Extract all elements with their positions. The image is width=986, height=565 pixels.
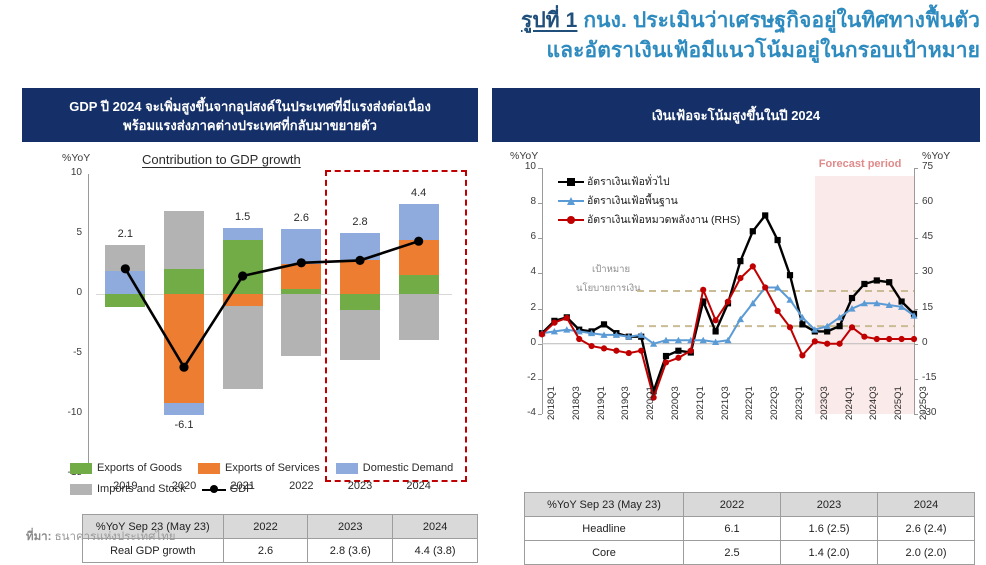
axis-tick — [538, 168, 542, 169]
left-y-axis — [88, 174, 89, 474]
legend-item: Exports of Goods — [70, 462, 182, 474]
bar-value-label: 2.8 — [330, 216, 390, 228]
right-chart-x-tick: 2019Q3 — [620, 386, 631, 420]
axis-tick — [538, 379, 542, 380]
left-legend: Exports of GoodsExports of ServicesDomes… — [70, 462, 480, 504]
left-y-tick: -10 — [52, 407, 82, 418]
legend-item: Domestic Demand — [336, 462, 453, 474]
axis-tick — [914, 273, 918, 274]
axis-tick — [914, 238, 918, 239]
right-chart-right-tick: 45 — [922, 231, 950, 242]
legend-item: อัตราเงินเฟ้อทั่วไป — [558, 172, 740, 191]
left-y-tick: 10 — [52, 167, 82, 178]
bar-segment — [223, 228, 263, 240]
bar-segment — [340, 260, 380, 294]
axis-tick — [538, 203, 542, 204]
right-chart-x-tick: 2023Q3 — [819, 386, 830, 420]
table-header-cell: 2024 — [393, 515, 478, 539]
right-chart-x-tick: 2018Q3 — [571, 386, 582, 420]
legend-swatch — [198, 463, 220, 474]
bar-segment — [399, 240, 439, 275]
forecast-period-band — [815, 176, 914, 414]
left-y-tick: -5 — [52, 347, 82, 358]
right-chart-x-tick: 2024Q1 — [844, 386, 855, 420]
axis-tick — [538, 309, 542, 310]
axis-tick — [914, 309, 918, 310]
right-header-text: เงินเฟ้อจะโน้มสูงขึ้นในปี 2024 — [652, 106, 820, 125]
table-header-cell: 2023 — [308, 515, 393, 539]
table-header-cell: %YoY Sep 23 (May 23) — [525, 493, 684, 517]
axis-tick — [538, 414, 542, 415]
table-cell: 1.4 (2.0) — [781, 541, 878, 565]
right-chart-x-tick: 2018Q1 — [546, 386, 557, 420]
left-chart-title: Contribution to GDP growth — [142, 152, 301, 167]
axis-tick — [914, 203, 918, 204]
legend-label: Imports and Stock — [97, 483, 186, 495]
left-panel-header: GDP ปี 2024 จะเพิ่มสูงขึ้นจากอุปสงค์ในปร… — [22, 88, 478, 142]
legend-row: Imports and StockGDP — [70, 483, 480, 495]
legend-line-marker-icon — [202, 484, 226, 495]
bar-segment — [164, 294, 204, 403]
legend-item: GDP — [202, 483, 254, 495]
right-chart-right-tick: -15 — [922, 372, 950, 383]
right-chart-left-tick: 6 — [510, 231, 536, 242]
right-chart-x-tick: 2025Q3 — [918, 386, 929, 420]
legend-label: อัตราเงินเฟ้อทั่วไป — [587, 173, 670, 190]
right-chart-x-tick: 2022Q1 — [744, 386, 755, 420]
headline-line1: กนง. ประเมินว่าเศรษฐกิจอยู่ในทิศทางฟื้นต… — [577, 9, 980, 32]
table-header-cell: 2022 — [223, 515, 308, 539]
right-chart-x-tick: 2021Q1 — [695, 386, 706, 420]
right-chart-left-tick: 10 — [510, 161, 536, 172]
legend-swatch — [70, 484, 92, 495]
source-note: ที่มา: ธนาคารแห่งประเทศไทย — [26, 528, 176, 546]
legend-label: GDP — [230, 483, 254, 495]
right-chart-left-tick: -2 — [510, 372, 536, 383]
bar-segment — [399, 204, 439, 240]
bar-segment — [399, 294, 439, 340]
bar-segment — [223, 294, 263, 306]
table-header-cell: 2023 — [781, 493, 878, 517]
target-label-line1: เป้าหมาย — [592, 262, 630, 277]
legend-item: อัตราเงินเฟ้อหมวดพลังงาน (RHS) — [558, 210, 740, 229]
bar-segment — [340, 233, 380, 261]
legend-item: อัตราเงินเฟ้อพื้นฐาน — [558, 191, 740, 210]
right-chart-right-axis — [914, 168, 915, 414]
right-chart-left-tick: 2 — [510, 302, 536, 313]
legend-label: อัตราเงินเฟ้อพื้นฐาน — [587, 192, 678, 209]
right-legend: อัตราเงินเฟ้อทั่วไปอัตราเงินเฟ้อพื้นฐานอ… — [558, 172, 740, 229]
axis-tick — [538, 238, 542, 239]
source-prefix: ที่มา: — [26, 531, 51, 543]
bar-segment — [281, 229, 321, 264]
table-cell: 1.6 (2.5) — [781, 517, 878, 541]
page-title: รูปที่ 1 กนง. ประเมินว่าเศรษฐกิจอยู่ในทิ… — [370, 6, 980, 66]
right-chart-x-tick: 2023Q1 — [794, 386, 805, 420]
legend-label: อัตราเงินเฟ้อหมวดพลังงาน (RHS) — [587, 211, 740, 228]
bar-segment — [340, 310, 380, 360]
inflation-summary-table: %YoY Sep 23 (May 23)202220232024Headline… — [524, 492, 975, 565]
left-header-line2: พร้อมแรงส่งภาคต่างประเทศที่กลับมาขยายตัว — [123, 118, 377, 133]
table-header-cell: 2024 — [878, 493, 975, 517]
left-y-axis-unit: %YoY — [62, 152, 90, 164]
legend-swatch — [70, 463, 92, 474]
right-chart-left-tick: -4 — [510, 407, 536, 418]
source-text: ธนาคารแห่งประเทศไทย — [51, 531, 175, 543]
bar-value-label: -6.1 — [154, 419, 214, 431]
right-chart-x-tick: 2022Q3 — [769, 386, 780, 420]
forecast-period-label: Forecast period — [819, 158, 902, 170]
right-chart-left-tick: 0 — [510, 337, 536, 348]
left-panel: GDP ปี 2024 จะเพิ่มสูงขึ้นจากอุปสงค์ในปร… — [22, 88, 478, 508]
bar-segment — [105, 245, 145, 271]
legend-marker-icon — [558, 176, 584, 187]
bar-segment — [164, 211, 204, 269]
bar-segment — [399, 275, 439, 294]
right-chart-left-tick: 4 — [510, 266, 536, 277]
right-chart-left-tick: 8 — [510, 196, 536, 207]
right-chart-x-tick: 2020Q1 — [645, 386, 656, 420]
table-cell: 6.1 — [684, 517, 781, 541]
legend-marker-icon — [558, 214, 584, 225]
legend-item: Exports of Services — [198, 462, 320, 474]
target-label-line2: นโยบายการเงิน — [576, 281, 641, 296]
slide-root: รูปที่ 1 กนง. ประเมินว่าเศรษฐกิจอยู่ในทิ… — [0, 0, 986, 558]
inflation-outlook-chart: %YoY %YoY Forecast period เป้าหมาย นโยบา… — [492, 144, 980, 508]
right-chart-x-tick: 2019Q1 — [596, 386, 607, 420]
gdp-contribution-chart: %YoY Contribution to GDP growth 1050-5-1… — [22, 144, 478, 508]
right-chart-x-tick: 2021Q3 — [720, 386, 731, 420]
right-chart-left-axis — [542, 168, 543, 414]
headline-line2: และอัตราเงินเฟ้อมีแนวโน้มอยู่ในกรอบเป้าห… — [547, 39, 981, 62]
table-cell: 4.4 (3.8) — [393, 539, 478, 563]
legend-row: Exports of GoodsExports of ServicesDomes… — [70, 462, 480, 474]
right-chart-right-tick: 60 — [922, 196, 950, 207]
left-y-tick: 0 — [52, 287, 82, 298]
axis-tick — [538, 344, 542, 345]
bar-segment — [223, 306, 263, 389]
bar-segment — [281, 294, 321, 356]
axis-tick — [914, 168, 918, 169]
right-chart-x-tick: 2020Q3 — [670, 386, 681, 420]
legend-label: Exports of Services — [225, 462, 320, 474]
inflation-table-header: %YoY Sep 23 (May 23)202220232024 — [525, 493, 975, 517]
table-row: Headline6.11.6 (2.5)2.6 (2.4) — [525, 517, 975, 541]
table-row: Core2.51.4 (2.0)2.0 (2.0) — [525, 541, 975, 565]
right-panel: เงินเฟ้อจะโน้มสูงขึ้นในปี 2024 %YoY %YoY… — [492, 88, 980, 508]
right-chart-x-tick: 2025Q1 — [893, 386, 904, 420]
table-cell: 2.8 (3.6) — [308, 539, 393, 563]
legend-swatch — [336, 463, 358, 474]
bar-segment — [164, 403, 204, 415]
bar-segment — [105, 271, 145, 294]
table-header-cell: 2022 — [684, 493, 781, 517]
right-panel-header: เงินเฟ้อจะโน้มสูงขึ้นในปี 2024 — [492, 88, 980, 142]
right-chart-right-tick: 30 — [922, 266, 950, 277]
axis-tick — [914, 344, 918, 345]
left-header-line1: GDP ปี 2024 จะเพิ่มสูงขึ้นจากอุปสงค์ในปร… — [69, 99, 431, 114]
bar-segment — [105, 294, 145, 307]
legend-label: Domestic Demand — [363, 462, 453, 474]
right-chart-right-tick: 75 — [922, 161, 950, 172]
legend-label: Exports of Goods — [97, 462, 182, 474]
bar-value-label: 2.6 — [271, 212, 331, 224]
table-cell: Headline — [525, 517, 684, 541]
legend-marker-icon — [558, 195, 584, 206]
bar-segment — [164, 269, 204, 294]
table-cell: 2.5 — [684, 541, 781, 565]
bar-segment — [223, 240, 263, 294]
right-chart-x-tick: 2024Q3 — [868, 386, 879, 420]
table-cell: 2.0 (2.0) — [878, 541, 975, 565]
bar-value-label: 1.5 — [213, 211, 273, 223]
table-cell: 2.6 (2.4) — [878, 517, 975, 541]
table-cell: Core — [525, 541, 684, 565]
figure-tag: รูปที่ 1 — [521, 9, 577, 32]
left-y-tick: 5 — [52, 227, 82, 238]
bar-value-label: 2.1 — [95, 228, 155, 240]
axis-tick — [538, 273, 542, 274]
axis-tick — [914, 379, 918, 380]
legend-item: Imports and Stock — [70, 483, 186, 495]
bar-value-label: 4.4 — [389, 187, 449, 199]
bar-segment — [281, 264, 321, 289]
right-chart-right-tick: 0 — [922, 337, 950, 348]
right-chart-right-tick: 15 — [922, 302, 950, 313]
bar-segment — [340, 294, 380, 310]
table-cell: 2.6 — [223, 539, 308, 563]
